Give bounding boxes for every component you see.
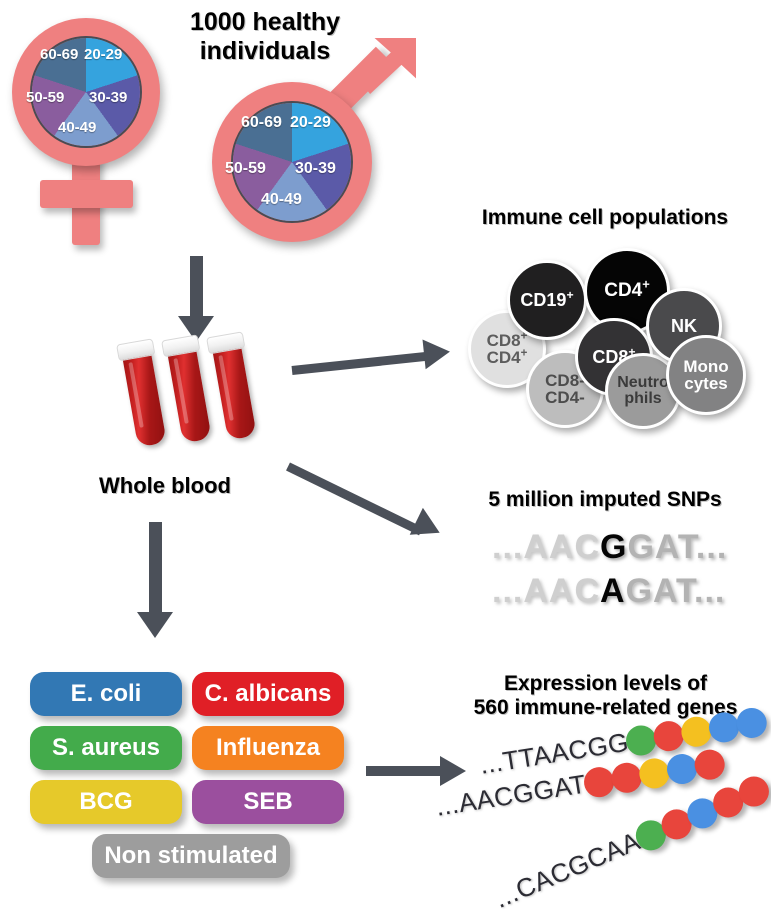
arrow-shaft xyxy=(366,766,442,776)
arrow-head xyxy=(423,337,452,370)
pie-label-40-49: 40-49 xyxy=(261,191,302,209)
strand-sequence: ...CACGCAA xyxy=(490,826,645,915)
cell-label: Monocytes xyxy=(683,358,728,393)
cell-label: CD8-CD4- xyxy=(545,372,585,407)
stimulus-label: Non stimulated xyxy=(104,842,277,870)
snp-variant-allele: A xyxy=(600,572,626,610)
page-title: 1000 healthy individuals xyxy=(160,8,370,66)
pie-label-30-39: 30-39 xyxy=(295,160,336,178)
stimulus-label: Influenza xyxy=(216,734,320,762)
whole-blood-label: Whole blood xyxy=(60,473,270,498)
arrow-shaft xyxy=(190,256,203,318)
snp-sequence-row: ...AACGGAT... xyxy=(492,528,727,567)
figure-canvas: 1000 healthy individuals 20-29 30-39 40-… xyxy=(0,0,771,922)
expression-bead xyxy=(637,756,671,790)
snp-prefix: ...AAC xyxy=(492,528,600,566)
expression-bead xyxy=(652,718,686,752)
stimulus-tile-non-stimulated[interactable]: Non stimulated xyxy=(92,834,290,878)
pie-label-20-29: 20-29 xyxy=(84,46,122,63)
immune-cell-populations-title: Immune cell populations xyxy=(440,206,770,230)
pie-label-40-49: 40-49 xyxy=(58,119,96,136)
cell-label: Neutrophils xyxy=(617,375,669,408)
stimulus-tile-e-coli[interactable]: E. coli xyxy=(30,672,182,716)
immune-cell-cd19pos: CD19+ xyxy=(507,260,587,340)
stimulus-tile-bcg[interactable]: BCG xyxy=(30,780,182,824)
cell-label: CD19+ xyxy=(520,291,573,309)
pie-label-60-69: 60-69 xyxy=(40,46,78,63)
stimulus-tile-seb[interactable]: SEB xyxy=(192,780,344,824)
expression-bead xyxy=(665,751,699,785)
whole-blood-tubes xyxy=(120,340,280,470)
stimuli-panel: E. coli C. albicans S. aureus Influenza … xyxy=(30,672,350,902)
snp-prefix: ...AAC xyxy=(492,572,600,610)
cell-label: NK xyxy=(671,317,697,335)
stimulus-label: C. albicans xyxy=(205,680,332,708)
pie-label-30-39: 30-39 xyxy=(89,89,127,106)
venus-crossbar xyxy=(40,180,133,208)
expression-bead xyxy=(609,760,643,794)
snp-suffix: GAT... xyxy=(627,528,727,566)
arrow-shaft xyxy=(292,352,430,375)
snp-variant-allele: G xyxy=(600,528,627,566)
expression-bead xyxy=(735,705,769,739)
expression-bead xyxy=(680,714,714,748)
pie-label-50-59: 50-59 xyxy=(225,160,266,178)
arrow-shaft xyxy=(149,522,162,614)
arrow-head xyxy=(137,612,173,638)
pie-label-20-29: 20-29 xyxy=(290,114,331,132)
pie-label-60-69: 60-69 xyxy=(241,114,282,132)
immune-cell-monocytes: Monocytes xyxy=(666,335,746,415)
stimulus-label: SEB xyxy=(243,788,292,816)
arrow-head xyxy=(410,508,447,546)
immune-cell-cluster: CD8+CD4+ CD19+ CD8-CD4- CD4+ CD8+ Neutro… xyxy=(450,240,770,410)
expression-bead xyxy=(692,747,726,781)
arrow-shaft xyxy=(286,462,423,535)
stimulus-label: S. aureus xyxy=(52,734,160,762)
cell-label: CD8+CD4+ xyxy=(487,332,528,367)
expression-strands: ...TTAACGG ...AACGGAT ...CACGCAA xyxy=(440,720,771,920)
snp-sequence-row: ...AACAGAT... xyxy=(492,572,725,611)
stimulus-label: E. coli xyxy=(71,680,142,708)
cell-label: CD4+ xyxy=(604,281,650,300)
strand-sequence: ...AACGGAT xyxy=(434,768,589,822)
stimulus-tile-influenza[interactable]: Influenza xyxy=(192,726,344,770)
stimulus-tile-c-albicans[interactable]: C. albicans xyxy=(192,672,344,716)
pie-label-50-59: 50-59 xyxy=(26,89,64,106)
stimulus-label: BCG xyxy=(79,788,132,816)
stimulus-tile-s-aureus[interactable]: S. aureus xyxy=(30,726,182,770)
snp-suffix: GAT... xyxy=(626,572,726,610)
snp-title: 5 million imputed SNPs xyxy=(440,488,770,512)
expression-bead xyxy=(707,710,741,744)
